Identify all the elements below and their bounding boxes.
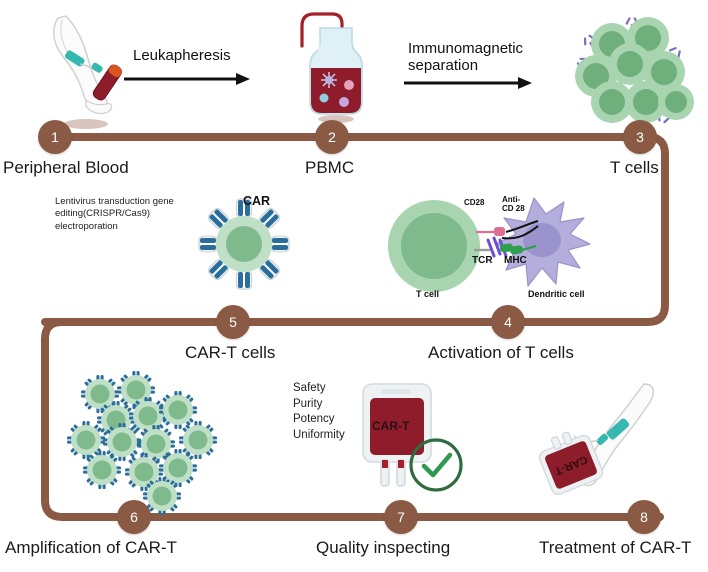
mhc-label: MHC (504, 255, 527, 266)
timeline-node-4-number: 4 (504, 314, 512, 330)
carT-workflow-diagram: Leukapheresis Immunomagnetic separation (0, 0, 708, 572)
timeline-node-4[interactable]: 4 (491, 305, 525, 339)
peripheral-blood-illustration (28, 8, 143, 128)
cd28-label: CD28 (464, 199, 484, 208)
immunomagnetic-separation-arrow-icon (404, 76, 534, 90)
step-label-amplification-of-car-t: Amplification of CAR-T (5, 538, 177, 558)
timeline-node-1-number: 1 (51, 129, 59, 145)
timeline-node-2[interactable]: 2 (315, 120, 349, 154)
car-label: CAR (243, 194, 270, 208)
car-t-infusion-illustration: CAR-T (540, 378, 690, 498)
pbmc-bottle-illustration (292, 6, 378, 124)
arrow-label-leukapheresis: Leukapheresis (133, 47, 231, 64)
step-label-pbmc: PBMC (305, 158, 354, 178)
quality-check-icon (405, 434, 467, 496)
timeline-node-3[interactable]: 3 (623, 120, 657, 154)
timeline-node-8-number: 8 (640, 509, 648, 525)
timeline-node-7-number: 7 (397, 509, 405, 525)
timeline-node-6-number: 6 (130, 509, 138, 525)
leukapheresis-arrow-icon (124, 72, 252, 86)
timeline-node-6[interactable]: 6 (117, 500, 151, 534)
timeline-node-3-number: 3 (636, 129, 644, 145)
step-label-quality-inspecting: Quality inspecting (316, 538, 450, 558)
t-cell-label: T cell (416, 289, 439, 299)
timeline-node-5[interactable]: 5 (216, 305, 250, 339)
anti-cd28-label: Anti- CD 28 (502, 196, 525, 214)
car-t-amplification-cluster (52, 368, 242, 518)
blood-bag-label: CAR-T (372, 419, 409, 433)
step-label-peripheral-blood: Peripheral Blood (3, 158, 129, 178)
timeline-node-7[interactable]: 7 (384, 500, 418, 534)
timeline-node-1[interactable]: 1 (38, 120, 72, 154)
step-label-treatment-of-car-t: Treatment of CAR-T (539, 538, 691, 558)
timeline-node-2-number: 2 (328, 129, 336, 145)
timeline-node-5-number: 5 (229, 314, 237, 330)
step-label-car-t-cells: CAR-T cells (185, 343, 275, 363)
timeline-node-8[interactable]: 8 (627, 500, 661, 534)
transduction-annotation: Lentivirus transduction gene editing(CRI… (55, 196, 230, 233)
tcr-label: TCR (472, 255, 493, 266)
dendritic-cell-label: Dendritic cell (528, 289, 585, 299)
t-cell-cluster-illustration (556, 6, 704, 134)
arrow-label-immunomagnetic-separation: Immunomagnetic separation (408, 40, 523, 75)
quality-criteria-annotation: Safety Purity Potency Uniformity (293, 381, 345, 443)
step-label-t-cells: T cells (610, 158, 659, 178)
step-label-activation-of-t-cells: Activation of T cells (428, 343, 574, 363)
